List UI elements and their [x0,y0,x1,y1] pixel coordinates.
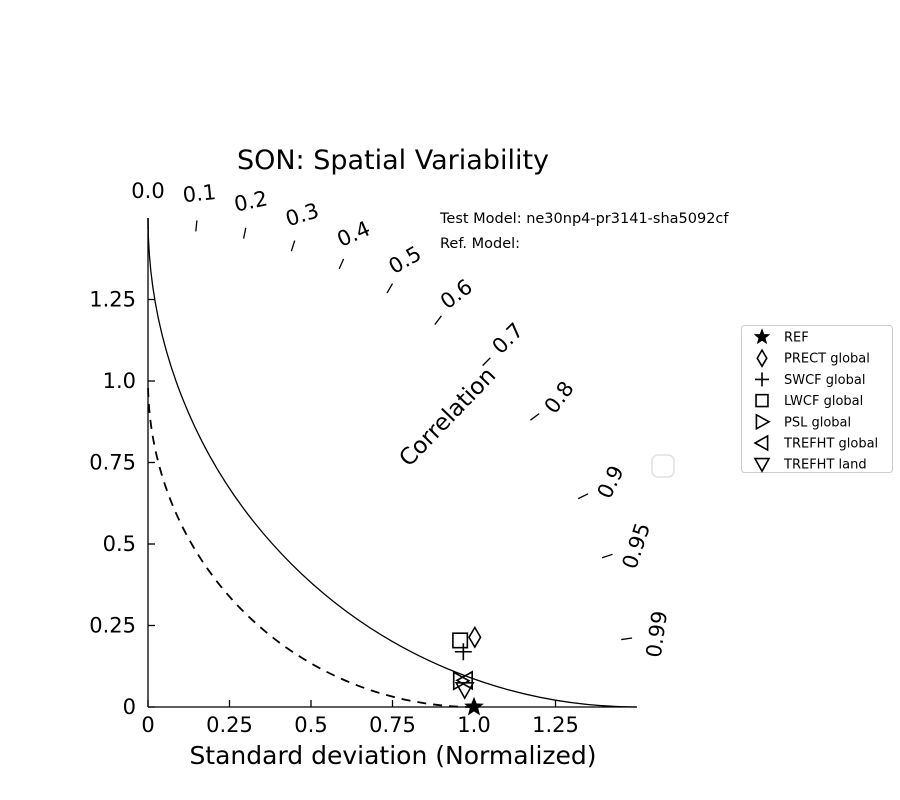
legend-item-label: LWCF global [784,394,863,409]
page-title: SON: Spatial Variability [237,145,549,176]
y-tick-label: 0.25 [89,614,136,638]
y-tick-label: 1.0 [103,369,136,393]
x-tick-label: 1.0 [457,713,490,737]
y-tick-label: 1.25 [89,288,136,312]
x-axis-title: Standard deviation (Normalized) [189,741,596,770]
correlation-tick-label: 0.1 [182,180,218,207]
legend-item-label: SWCF global [784,373,865,388]
legend-item-label: TREFHT global [783,437,878,452]
taylor-diagram-figure: SON: Spatial Variability Test Model: ne3… [0,0,900,800]
x-tick-label: 1.25 [532,713,579,737]
test-model-annotation: Test Model: ne30np4-pr3141-sha5092cf [439,211,729,227]
overlay-widget-placeholder[interactable] [652,455,674,477]
legend-item-label: TREFHT land [783,458,867,473]
x-tick-label: 0.5 [294,713,327,737]
legend-item-label: REF [784,331,809,346]
x-tick-label: 0.25 [206,713,253,737]
legend-item-label: PRECT global [784,352,870,367]
correlation-tick-label: 0.0 [131,179,164,203]
x-tick-label: 0.75 [369,713,416,737]
legend-item-label: PSL global [784,415,851,430]
x-tick-label: 0 [141,713,154,737]
y-tick-label: 0 [123,695,136,719]
ref-model-annotation: Ref. Model: [440,236,520,252]
y-tick-label: 0.5 [103,532,136,556]
y-tick-label: 0.75 [89,451,136,475]
legend[interactable]: REFPRECT globalSWCF globalLWCF globalPSL… [742,326,893,473]
